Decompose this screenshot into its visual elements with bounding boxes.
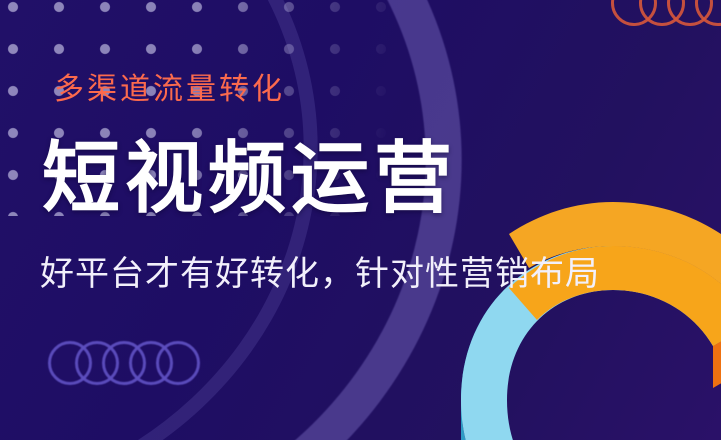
page-title: 短视频运营 — [42, 139, 457, 217]
eyebrow-text: 多渠道流量转化 — [54, 64, 285, 108]
cluster-ring-icon — [156, 341, 200, 385]
ring-cluster-decoration — [48, 340, 218, 382]
corner-rings-decoration — [607, 0, 721, 32]
promo-banner: 多渠道流量转化 短视频运营 好平台才有好转化，针对性营销布局 — [0, 0, 721, 440]
subtitle-text: 好平台才有好转化，针对性营销布局 — [40, 258, 600, 292]
